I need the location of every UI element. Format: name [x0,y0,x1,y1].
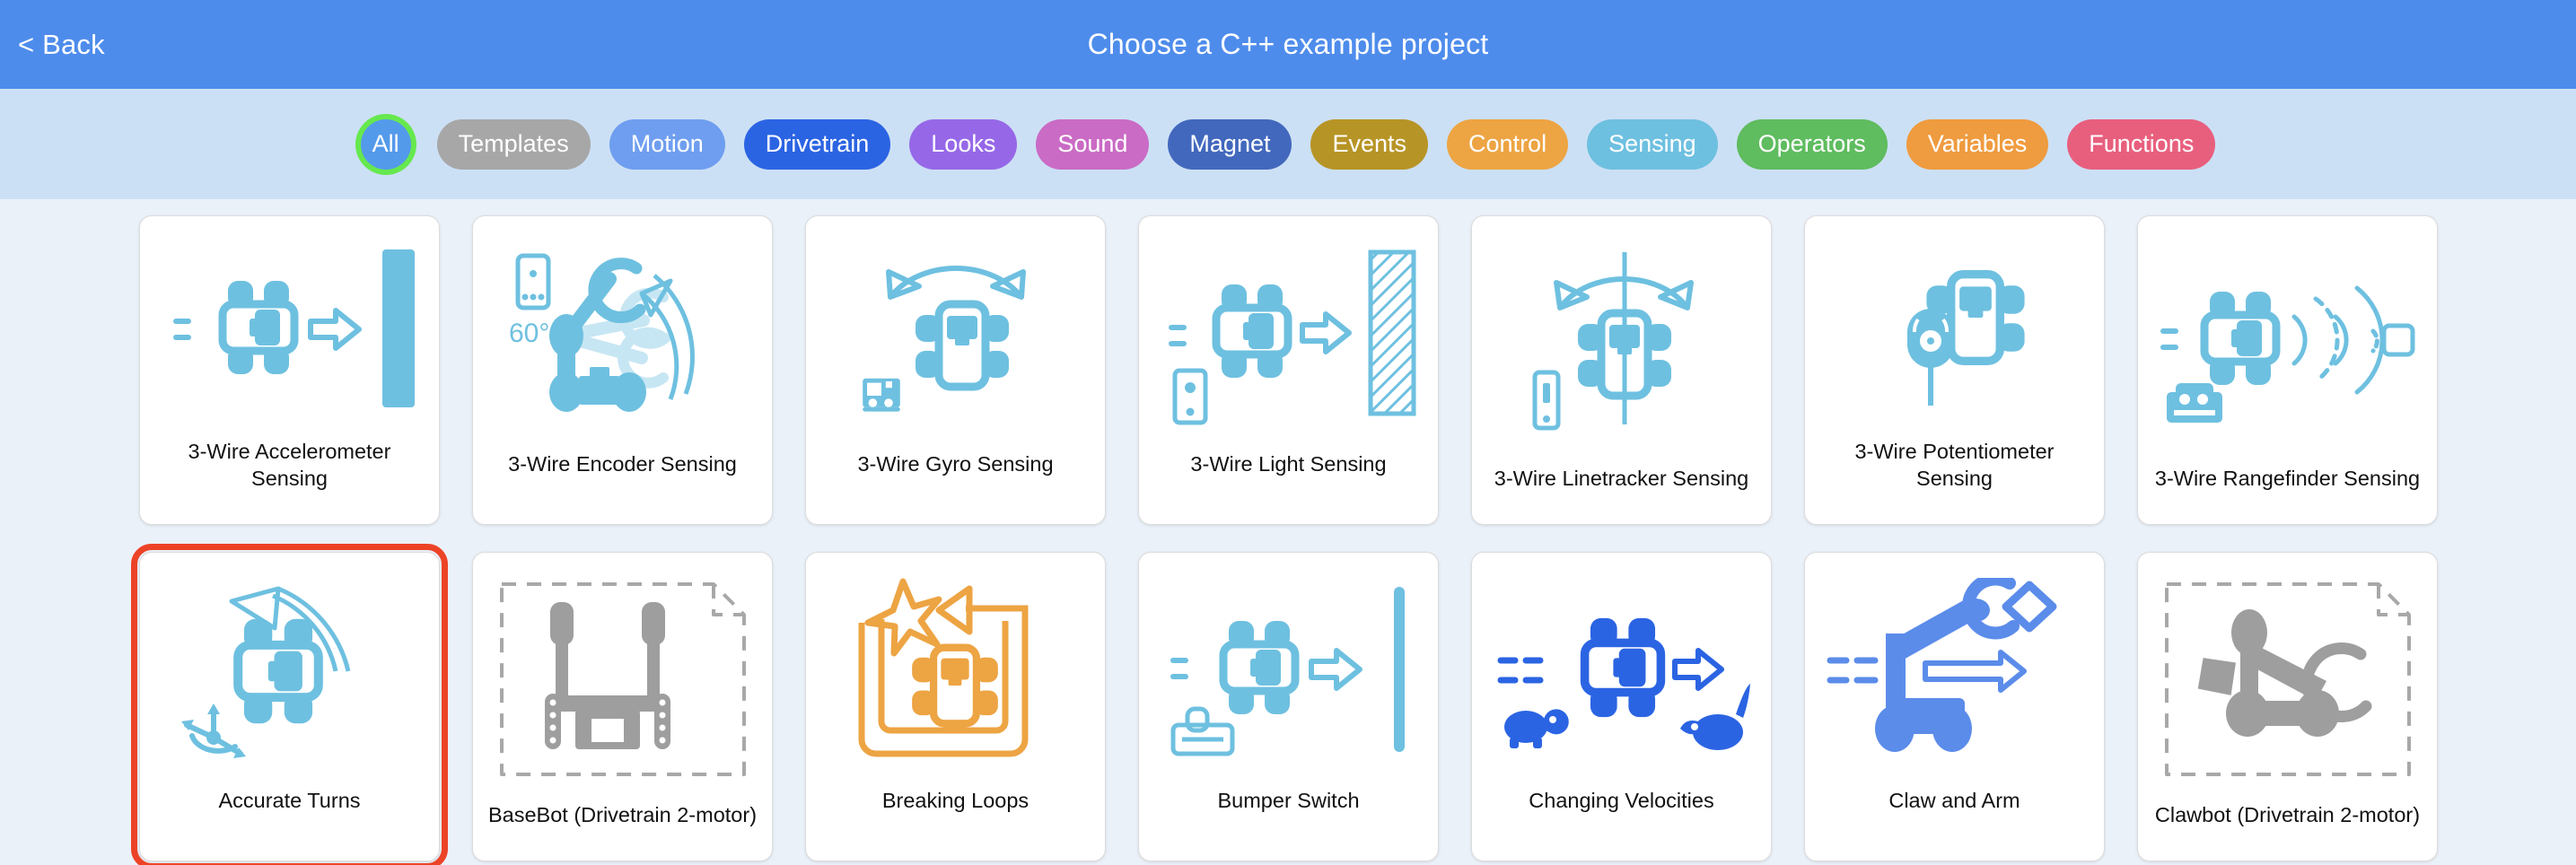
example-card[interactable]: 3-Wire Light Sensing [1138,215,1439,525]
example-card-title: 3-Wire Gyro Sensing [806,450,1105,477]
basebot-icon [473,553,772,801]
example-card-title: Bumper Switch [1139,787,1438,814]
page-title: Choose a C++ example project [1088,28,1489,61]
category-filter-bar: AllTemplatesMotionDrivetrainLooksSoundMa… [0,89,2576,199]
category-pill-control[interactable]: Control [1447,119,1568,170]
example-card[interactable]: Bumper Switch [1138,552,1439,861]
category-pill-magnet[interactable]: Magnet [1168,119,1292,170]
category-pill-label: Events [1332,130,1406,158]
example-card[interactable]: 3-Wire Rangefinder Sensing [2137,215,2438,525]
example-card[interactable]: 3-Wire Linetracker Sensing [1471,215,1772,525]
robot-rangefinder-icon [2138,216,2437,465]
robot-turn-icon [140,553,439,787]
example-card-title: Clawbot (Drivetrain 2-motor) [2138,801,2437,828]
category-pill-label: Sensing [1608,130,1696,158]
category-pill-label: Templates [459,130,569,158]
category-pill-label: Control [1468,130,1546,158]
example-card[interactable]: Changing Velocities [1471,552,1772,861]
category-pill-operators[interactable]: Operators [1737,119,1888,170]
robot-gyro-icon [806,216,1105,450]
app-header: < Back Choose a C++ example project [0,0,2576,89]
example-card-title: Breaking Loops [806,787,1105,814]
example-card-title: 3-Wire Rangefinder Sensing [2138,465,2437,492]
category-pill-variables[interactable]: Variables [1906,119,2049,170]
category-pill-drivetrain[interactable]: Drivetrain [744,119,891,170]
example-card[interactable]: 60° 3-Wire Encoder Sensing [472,215,773,525]
category-pill-sound[interactable]: Sound [1036,119,1149,170]
example-card[interactable]: BaseBot (Drivetrain 2-motor) [472,552,773,861]
arm-encoder-icon: 60° [473,216,772,450]
example-card[interactable]: Claw and Arm [1804,552,2105,861]
robot-linetracker-icon [1472,216,1771,465]
category-pill-label: Motion [631,130,704,158]
category-pill-motion[interactable]: Motion [609,119,725,170]
category-pill-all[interactable]: All [361,119,411,170]
example-card[interactable]: 3-Wire Accelerometer Sensing [139,215,440,525]
category-pill-functions[interactable]: Functions [2067,119,2215,170]
example-card-title: 3-Wire Accelerometer Sensing [140,438,439,492]
robot-speed-icon [1472,553,1771,787]
category-pill-label: Sound [1057,130,1127,158]
category-pill-templates[interactable]: Templates [437,119,591,170]
category-pill-looks[interactable]: Looks [909,119,1017,170]
category-pill-label: Looks [931,130,995,158]
example-card-title: 3-Wire Linetracker Sensing [1472,465,1771,492]
example-card-title: 3-Wire Potentiometer Sensing [1805,438,2104,492]
robot-accelerometer-icon [140,216,439,438]
robot-bumper-icon [1139,553,1438,787]
example-card[interactable]: Accurate Turns [139,552,440,861]
robot-light-sensor-icon [1139,216,1438,450]
category-pill-sensing[interactable]: Sensing [1587,119,1718,170]
svg-text:60°: 60° [509,319,549,348]
example-card-title: Changing Velocities [1472,787,1771,814]
example-card-grid: 3-Wire Accelerometer Sensing 60° [0,215,2576,861]
category-pill-label: Magnet [1189,130,1270,158]
example-card[interactable]: 3-Wire Potentiometer Sensing [1804,215,2105,525]
category-pill-label: Variables [1928,130,2028,158]
example-grid-scroll-region[interactable]: 3-Wire Accelerometer Sensing 60° [0,199,2576,865]
example-card-title: BaseBot (Drivetrain 2-motor) [473,801,772,828]
clawbot-icon [2138,553,2437,801]
example-card-title: Accurate Turns [140,787,439,814]
example-card-title: Claw and Arm [1805,787,2104,814]
claw-arm-icon [1805,553,2104,787]
example-card[interactable]: Breaking Loops [805,552,1106,861]
category-pill-label: Operators [1758,130,1866,158]
category-pill-label: Drivetrain [766,130,870,158]
back-button[interactable]: < Back [18,29,105,61]
example-card-title: 3-Wire Encoder Sensing [473,450,772,477]
robot-loop-break-icon [806,553,1105,787]
example-card[interactable]: 3-Wire Gyro Sensing [805,215,1106,525]
robot-potentiometer-icon [1805,216,2104,438]
example-card-title: 3-Wire Light Sensing [1139,450,1438,477]
category-pill-events[interactable]: Events [1310,119,1428,170]
category-pill-label: Functions [2089,130,2194,158]
example-card[interactable]: Clawbot (Drivetrain 2-motor) [2137,552,2438,861]
category-pill-label: All [372,130,399,158]
